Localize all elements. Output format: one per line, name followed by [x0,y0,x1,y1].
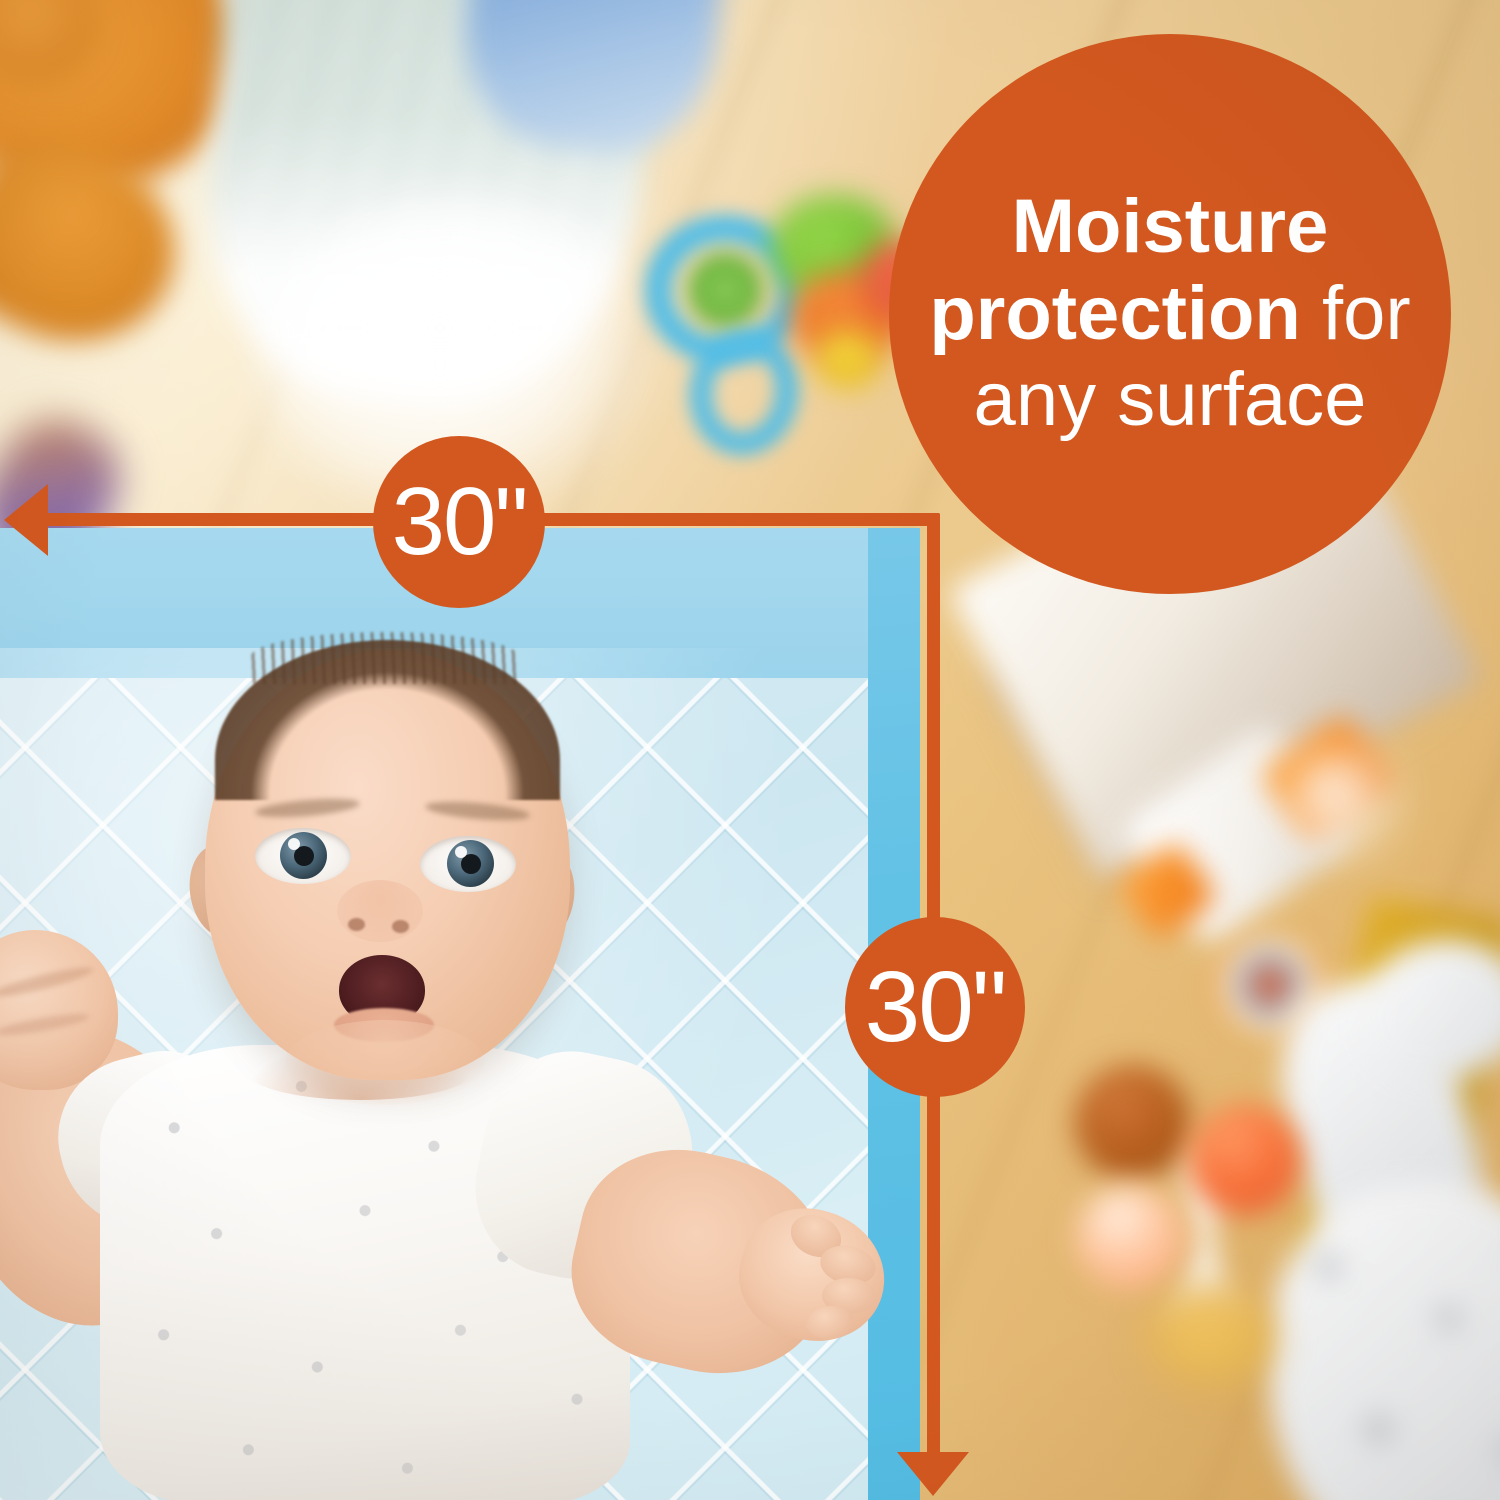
headline-protection: protection [929,271,1301,356]
headline-line-3: any surface [974,357,1367,444]
height-dimension-badge: 30" [845,917,1025,1097]
headline-for: for [1301,271,1411,356]
moisture-protection-badge: Moisture protection for any surface [889,34,1451,594]
product-marketing-image: 30" 30" Moisture protection for any surf… [0,0,1500,1500]
headline-moisture: Moisture [1012,184,1329,269]
headline-line-1: Moisture [1012,184,1329,271]
left-arrowhead-icon [4,484,48,556]
headline-line-2: protection for [929,271,1410,358]
down-arrowhead-icon [897,1452,969,1496]
headline-any-surface: any surface [974,357,1367,442]
width-dimension-badge: 30" [373,436,545,608]
